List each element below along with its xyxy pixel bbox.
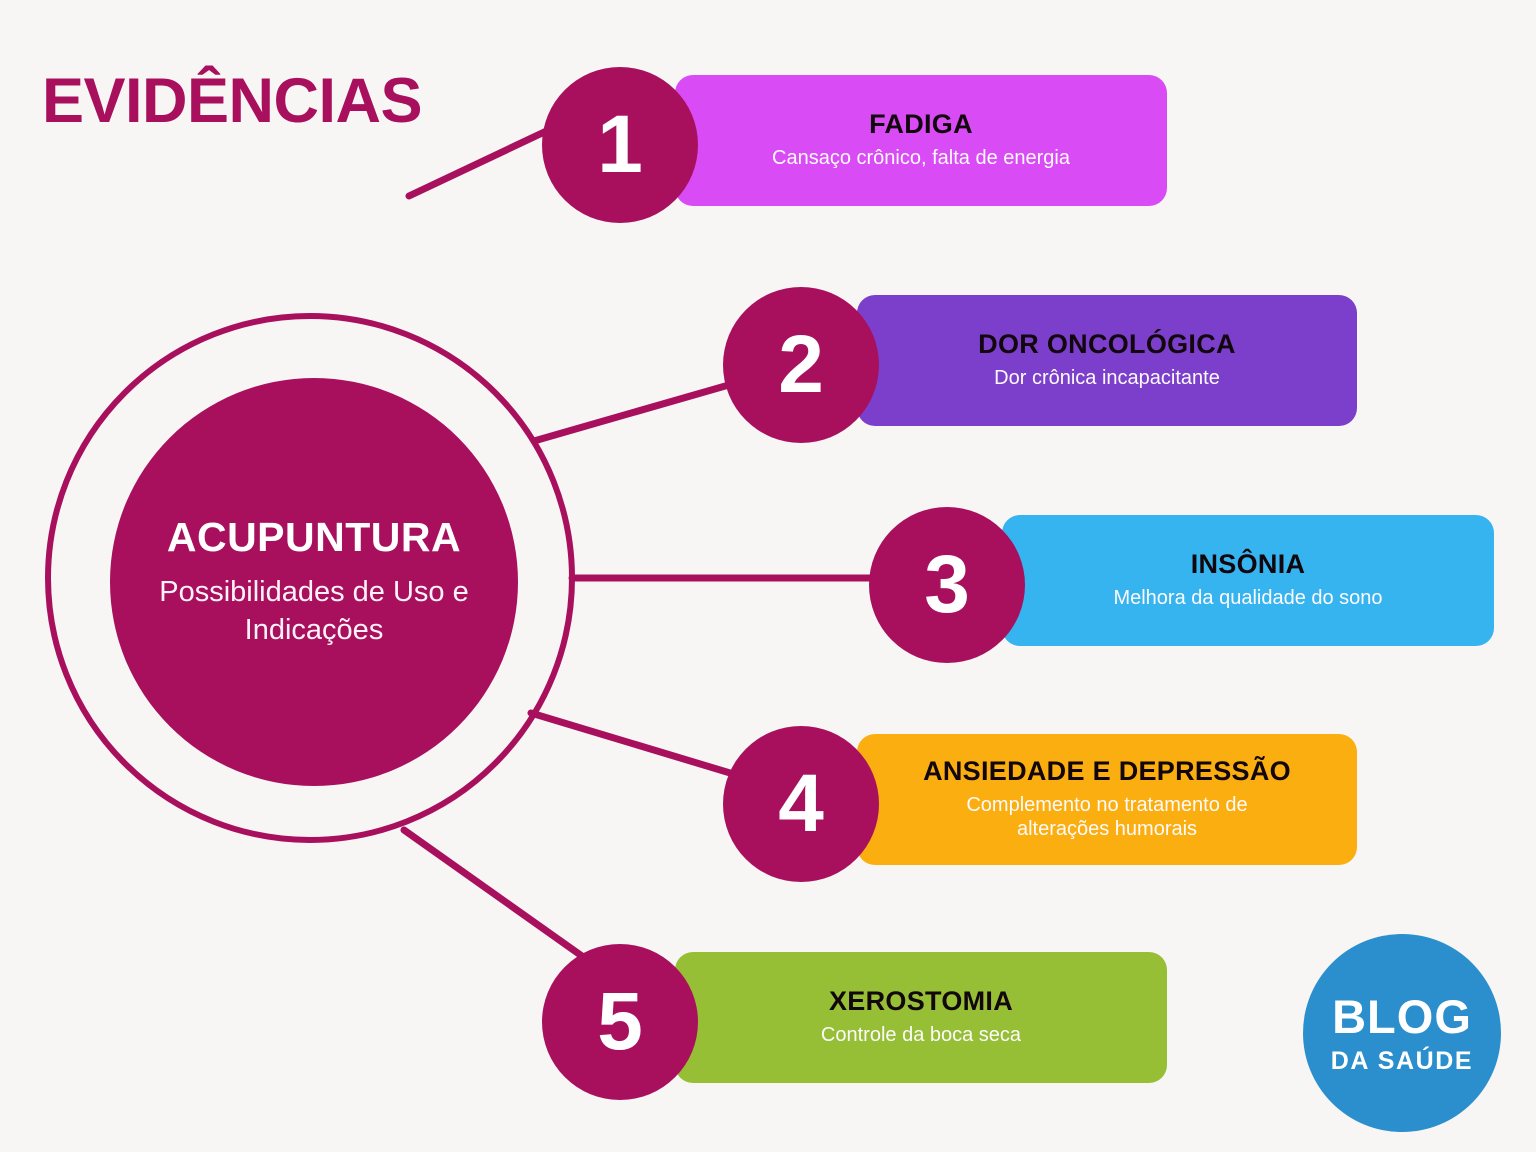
evidence-subtitle-2: Dor crônica incapacitante	[994, 366, 1220, 391]
evidence-number-badge-3[interactable]: 3	[869, 507, 1025, 663]
hub-title: ACUPUNTURA	[167, 515, 461, 560]
evidence-heading-5: XEROSTOMIA	[829, 987, 1013, 1017]
evidence-subtitle-4: Complemento no tratamento de alterações …	[942, 793, 1272, 843]
evidence-heading-2: DOR ONCOLÓGICA	[978, 330, 1236, 360]
evidence-bar-2[interactable]: DOR ONCOLÓGICA Dor crônica incapacitante	[857, 295, 1357, 426]
hub-subtitle: Possibilidades de Uso e Indicações	[138, 574, 490, 648]
blog-logo-main-text: BLOG	[1332, 993, 1472, 1040]
evidence-bar-1[interactable]: FADIGA Cansaço crônico, falta de energia	[675, 75, 1167, 206]
evidence-number-badge-1[interactable]: 1	[542, 67, 698, 223]
evidence-number-badge-5[interactable]: 5	[542, 944, 698, 1100]
evidence-subtitle-3: Melhora da qualidade do sono	[1113, 586, 1382, 611]
infographic-canvas: EVIDÊNCIAS ACUPUNTURA Possibilidades de …	[0, 0, 1536, 1152]
evidence-bar-5[interactable]: XEROSTOMIA Controle da boca seca	[675, 952, 1167, 1083]
blog-logo-sub-text: DA SAÚDE	[1331, 1049, 1473, 1074]
page-title: EVIDÊNCIAS	[42, 70, 422, 133]
evidence-heading-1: FADIGA	[869, 110, 973, 140]
evidence-heading-3: INSÔNIA	[1191, 550, 1306, 580]
evidence-heading-4: ANSIEDADE E DEPRESSÃO	[923, 757, 1291, 787]
evidence-bar-3[interactable]: INSÔNIA Melhora da qualidade do sono	[1002, 515, 1494, 646]
evidence-subtitle-5: Controle da boca seca	[821, 1023, 1021, 1048]
hub-node: ACUPUNTURA Possibilidades de Uso e Indic…	[45, 313, 575, 843]
hub-core-circle: ACUPUNTURA Possibilidades de Uso e Indic…	[110, 378, 518, 786]
evidence-number-badge-4[interactable]: 4	[723, 726, 879, 882]
evidence-subtitle-1: Cansaço crônico, falta de energia	[772, 146, 1070, 171]
blog-logo[interactable]: BLOG DA SAÚDE	[1303, 934, 1501, 1132]
evidence-bar-4[interactable]: ANSIEDADE E DEPRESSÃO Complemento no tra…	[857, 734, 1357, 865]
connector-line-5	[404, 830, 596, 966]
evidence-number-badge-2[interactable]: 2	[723, 287, 879, 443]
